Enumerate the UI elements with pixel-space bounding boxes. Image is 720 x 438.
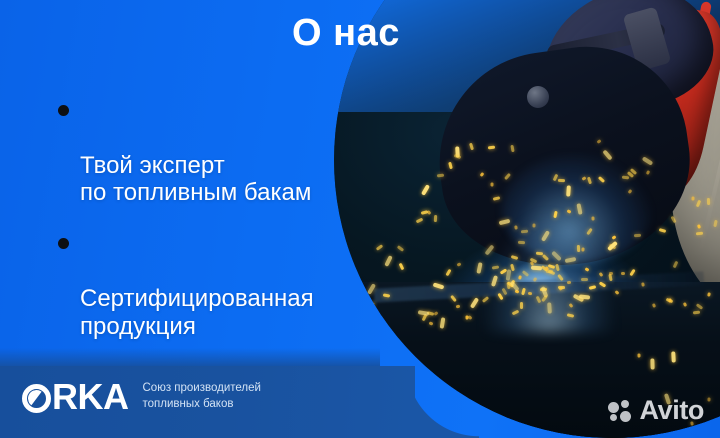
orka-wordmark: RKA: [22, 379, 129, 415]
spark-particle: [385, 255, 393, 267]
page-title: О нас: [292, 12, 400, 55]
spark-particle: [397, 245, 404, 252]
spark-particle: [415, 218, 423, 224]
spark-particle: [399, 262, 405, 270]
spark-particle: [420, 210, 428, 215]
list-item: Сертифицированная продукция: [58, 229, 314, 340]
bullet-dot-icon: [58, 238, 69, 249]
spark-particle: [620, 272, 624, 275]
orka-wordmark-text: RKA: [52, 379, 129, 415]
spark-particle: [477, 262, 483, 274]
visor-knob: [527, 86, 549, 108]
spark-particle: [421, 184, 430, 196]
spark-particle: [446, 268, 452, 276]
spark-particle: [426, 210, 431, 215]
list-item: Твой эксперт по топливным бакам: [58, 96, 314, 207]
spark-particle: [457, 262, 462, 266]
spark-particle: [659, 228, 667, 233]
avito-watermark: Avito: [608, 397, 705, 424]
brand-logo: RKA Союз производителей топливных баков: [22, 379, 261, 415]
list-item-label: Твой эксперт по топливным бакам: [80, 152, 311, 207]
bottom-bar-shade: [0, 348, 380, 366]
welding-arc-beam: [484, 212, 614, 332]
about-us-banner: О нас Твой эксперт по топливным бакам Се…: [0, 0, 720, 438]
brand-tagline: Союз производителей топливных баков: [143, 381, 261, 414]
avito-dots-icon: [608, 400, 634, 422]
list-item-label: Сертифицированная продукция: [80, 285, 314, 340]
avito-wordmark: Avito: [640, 397, 705, 424]
orka-o-glyph-icon: [22, 384, 51, 413]
spark-particle: [434, 214, 437, 221]
bullet-dot-icon: [58, 105, 69, 116]
spark-particle: [672, 261, 678, 269]
spark-particle: [376, 244, 383, 251]
brand-bar: RKA Союз производителей топливных баков: [0, 366, 415, 438]
